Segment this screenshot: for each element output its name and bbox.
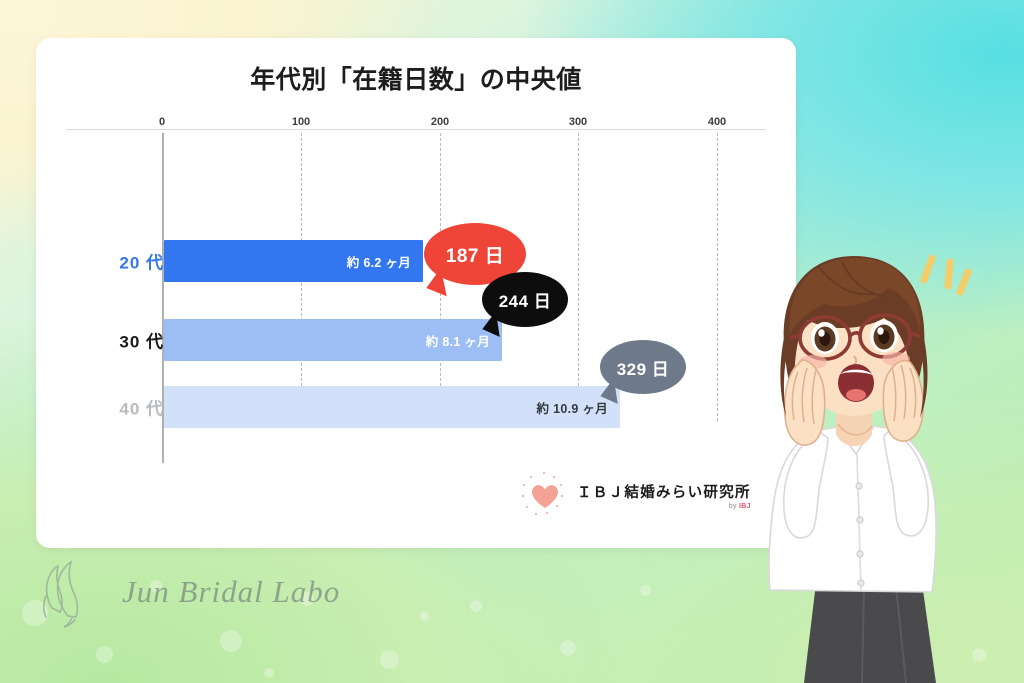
bar-40s[interactable]: 約 10.9 ヶ月	[164, 386, 620, 428]
bar-inline-label-30s: 約 8.1 ヶ月	[426, 331, 502, 350]
value-bubble-tail-20s	[426, 266, 455, 296]
value-bubble-text-20s: 187 日	[446, 241, 504, 268]
bar-inline-label-40s: 約 10.9 ヶ月	[537, 398, 620, 417]
bar-30s[interactable]: 約 8.1 ヶ月	[164, 319, 502, 361]
bar-row-40s: 40 代 約 10.9 ヶ月	[36, 386, 796, 428]
brand-logo: ＩＢＪ結婚みらい研究所 by IBJ	[522, 472, 751, 518]
category-label-40s: 40 代	[119, 395, 164, 420]
bar-row-20s: 20 代 約 6.2 ヶ月	[36, 240, 796, 282]
heart-icon-wrapper	[522, 472, 568, 518]
heart-icon	[531, 484, 559, 509]
watermark-text: Jun Bridal Labo	[122, 574, 340, 610]
value-bubble-40s: 329 日	[600, 340, 686, 394]
wing-icon	[38, 556, 108, 628]
x-tick-label-100: 100	[292, 116, 310, 128]
surprise-marks	[924, 258, 968, 292]
character-illustration	[724, 238, 1024, 683]
watermark: Jun Bridal Labo	[38, 556, 340, 628]
x-tick-label-0: 0	[159, 116, 165, 128]
x-tick-label-200: 200	[431, 116, 449, 128]
x-tick-label-400: 400	[708, 116, 726, 128]
category-label-20s: 20 代	[119, 249, 164, 274]
skirt	[804, 583, 936, 683]
value-bubble-text-30s: 244 日	[499, 287, 552, 312]
chart-card: 年代別「在籍日数」の中央値 0 100 200 300 400 20 代 約 6…	[36, 38, 796, 548]
value-bubble-30s: 244 日	[482, 272, 568, 327]
category-label-30s: 30 代	[119, 328, 164, 353]
bar-20s[interactable]: 約 6.2 ヶ月	[164, 240, 423, 282]
value-bubble-text-40s: 329 日	[617, 355, 670, 380]
bar-inline-label-20s: 約 6.2 ヶ月	[347, 252, 423, 271]
x-tick-label-300: 300	[569, 116, 587, 128]
